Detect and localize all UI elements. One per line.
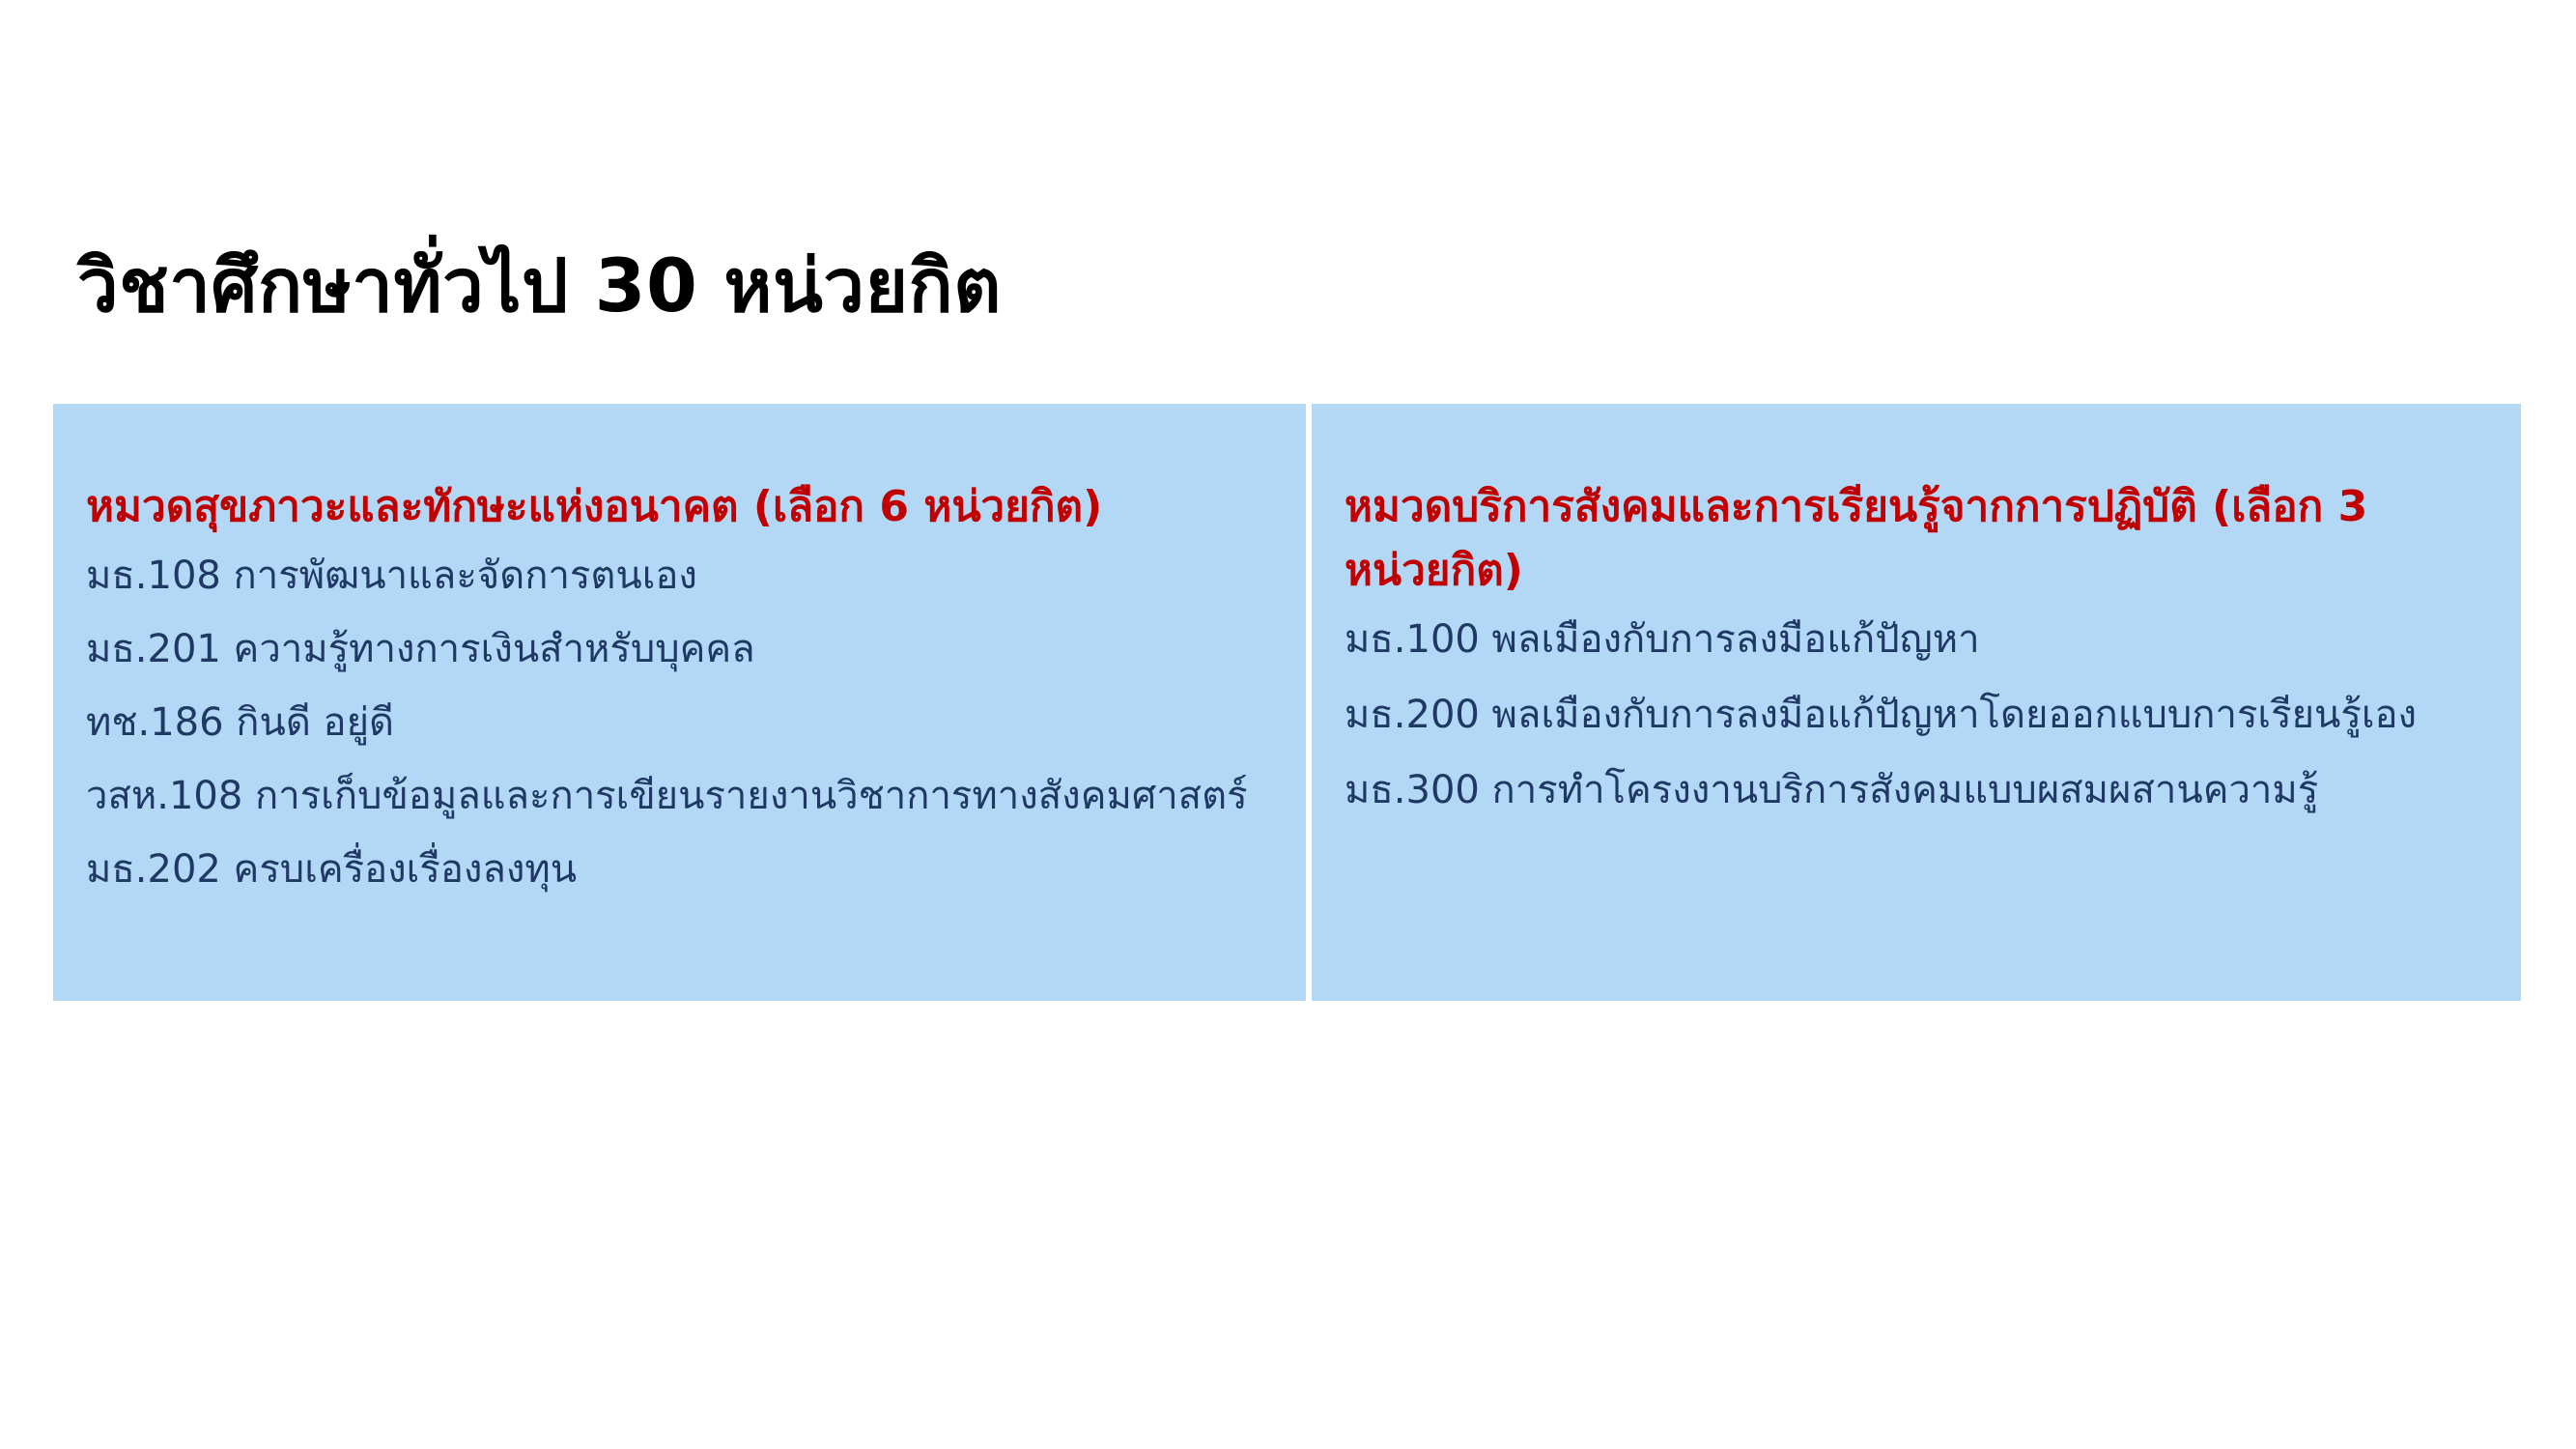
page-title: วิชาศึกษาทั่วไป 30 หน่วยกิต [77, 239, 2299, 332]
list-item: มธ.300 การทำโครงงานบริการสังคมแบบผสมผสาน… [1345, 771, 2488, 810]
slide-canvas: วิชาศึกษาทั่วไป 30 หน่วยกิต หมวดสุขภาวะแ… [0, 0, 2576, 1449]
panel-heading-social-service-and-experiential-learning: หมวดบริการสังคมและการเรียนรู้จากการปฏิบั… [1345, 475, 2488, 603]
list-item: ทช.186 กินดี อยู่ดี [86, 703, 1273, 742]
list-item: วสห.108 การเก็บข้อมูลและการเขียนรายงานวิ… [86, 777, 1273, 815]
panel-social-service-and-experiential-learning: หมวดบริการสังคมและการเรียนรู้จากการปฏิบั… [1312, 404, 2521, 1001]
list-item: มธ.202 ครบเครื่องเรื่องลงทุน [86, 850, 1273, 889]
list-item: มธ.108 การพัฒนาและจัดการตนเอง [86, 556, 1273, 595]
panel-health-and-future-skills: หมวดสุขภาวะและทักษะแห่งอนาคต (เลือก 6 หน… [53, 404, 1306, 1001]
list-item: มธ.100 พลเมืองกับการลงมือแก้ปัญหา [1345, 620, 2488, 659]
list-item: มธ.201 ความรู้ทางการเงินสำหรับบุคคล [86, 630, 1273, 668]
course-list-social-service-and-experiential-learning: มธ.100 พลเมืองกับการลงมือแก้ปัญหา มธ.200… [1345, 620, 2488, 810]
course-list-health-and-future-skills: มธ.108 การพัฒนาและจัดการตนเอง มธ.201 ควา… [86, 556, 1273, 889]
curriculum-panel-board: หมวดสุขภาวะและทักษะแห่งอนาคต (เลือก 6 หน… [53, 404, 2521, 1001]
list-item: มธ.200 พลเมืองกับการลงมือแก้ปัญหาโดยออกแ… [1345, 696, 2488, 734]
panel-heading-health-and-future-skills: หมวดสุขภาวะและทักษะแห่งอนาคต (เลือก 6 หน… [86, 475, 1273, 539]
